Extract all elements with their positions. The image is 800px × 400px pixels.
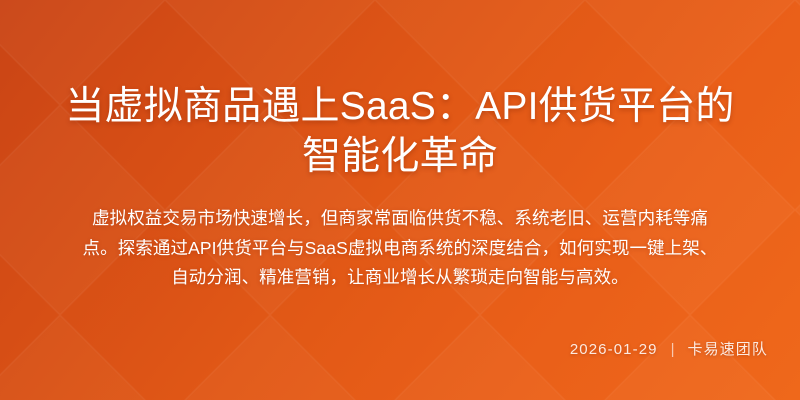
banner-content: 当虚拟商品遇上SaaS：API供货平台的 智能化革命 虚拟权益交易市场快速增长，…	[0, 0, 800, 400]
banner-title-line-2: 智能化革命	[38, 132, 762, 182]
banner-title-line-1: 当虚拟商品遇上SaaS：API供货平台的	[38, 82, 762, 132]
banner-description-line-2: 点。探索通过API供货平台与SaaS虚拟电商系统的深度结合，如何实现一键上架、	[30, 234, 770, 264]
article-hero-banner: 当虚拟商品遇上SaaS：API供货平台的 智能化革命 虚拟权益交易市场快速增长，…	[0, 0, 800, 400]
banner-description: 虚拟权益交易市场快速增长，但商家常面临供货不稳、系统老旧、运营内耗等痛 点。探索…	[30, 204, 770, 293]
banner-description-line-1: 虚拟权益交易市场快速增长，但商家常面临供货不稳、系统老旧、运营内耗等痛	[30, 204, 770, 234]
banner-title: 当虚拟商品遇上SaaS：API供货平台的 智能化革命	[38, 82, 762, 182]
banner-description-line-3: 自动分润、精准营销，让商业增长从繁琐走向智能与高效。	[30, 263, 770, 293]
